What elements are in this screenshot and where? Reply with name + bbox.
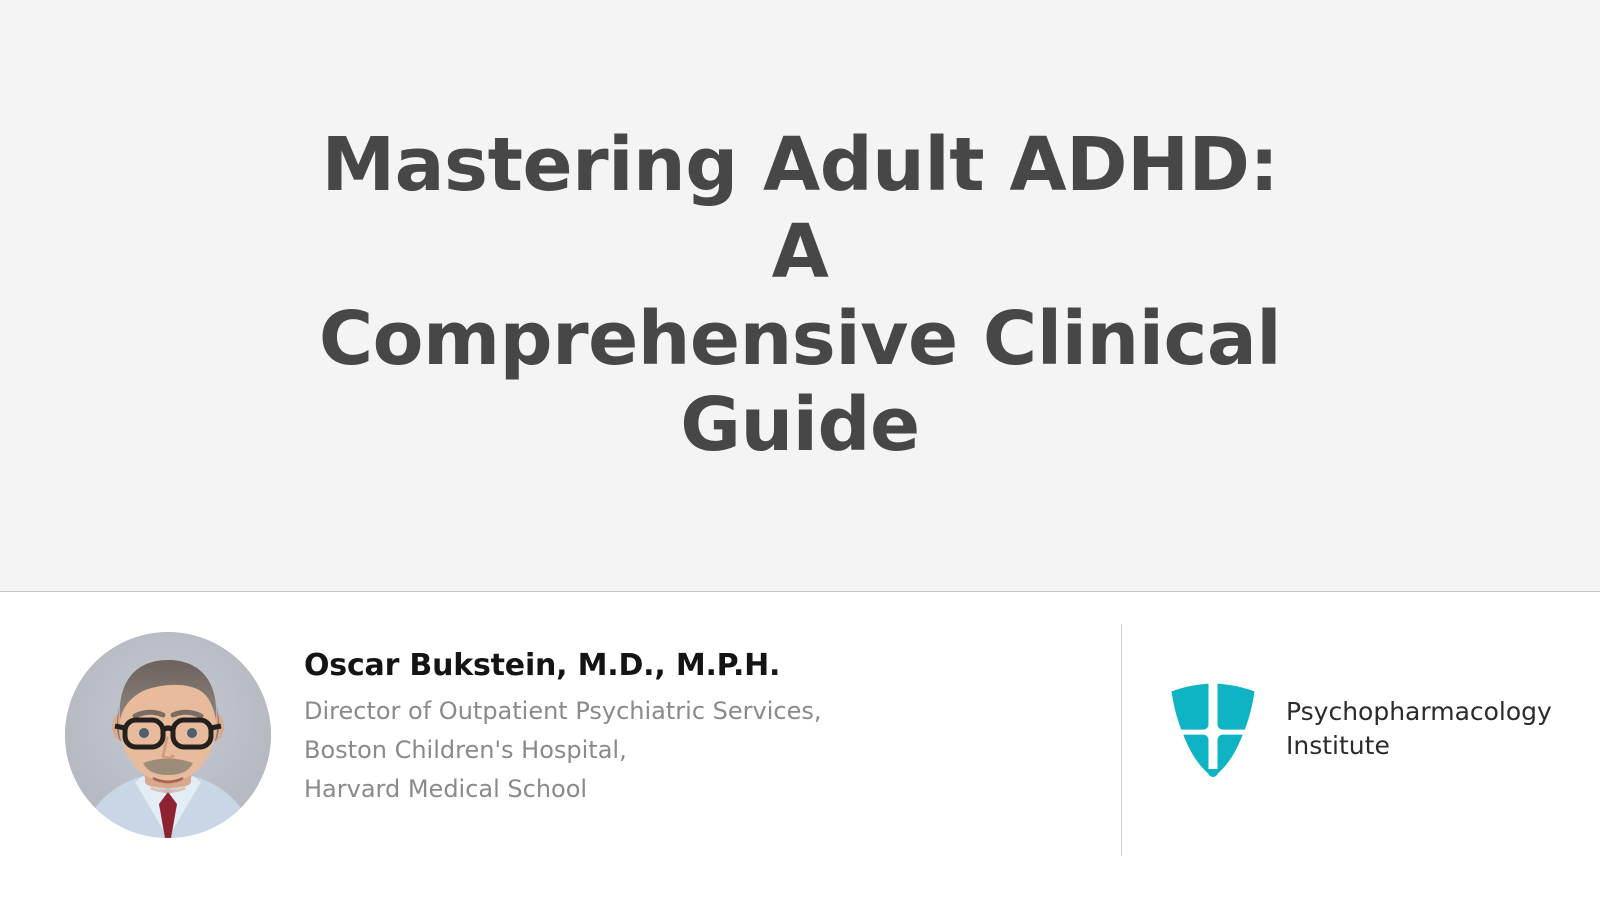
speaker-block: Oscar Bukstein, M.D., M.P.H. Director of… <box>65 632 822 838</box>
brand-lockup: Psychopharmacology Institute <box>1168 681 1552 777</box>
brand-name: Psychopharmacology Institute <box>1286 695 1552 763</box>
speaker-affiliation: Director of Outpatient Psychiatric Servi… <box>304 692 822 809</box>
speaker-name: Oscar Bukstein, M.D., M.P.H. <box>304 648 822 684</box>
avatar-portrait-image <box>65 632 271 838</box>
page-title: Mastering Adult ADHD: A Comprehensive Cl… <box>300 122 1300 468</box>
footer-band: Oscar Bukstein, M.D., M.P.H. Director of… <box>0 593 1600 899</box>
affiliation-line-2: Boston Children's Hospital, <box>304 731 822 770</box>
presentation-slide: Mastering Adult ADHD: A Comprehensive Cl… <box>0 0 1600 899</box>
affiliation-line-3: Harvard Medical School <box>304 770 822 809</box>
vertical-divider <box>1121 624 1122 856</box>
affiliation-line-1: Director of Outpatient Psychiatric Servi… <box>304 692 822 731</box>
avatar <box>65 632 271 838</box>
speaker-details: Oscar Bukstein, M.D., M.P.H. Director of… <box>304 632 822 809</box>
title-band: Mastering Adult ADHD: A Comprehensive Cl… <box>0 0 1600 592</box>
shield-quadrant-icon <box>1168 681 1258 777</box>
